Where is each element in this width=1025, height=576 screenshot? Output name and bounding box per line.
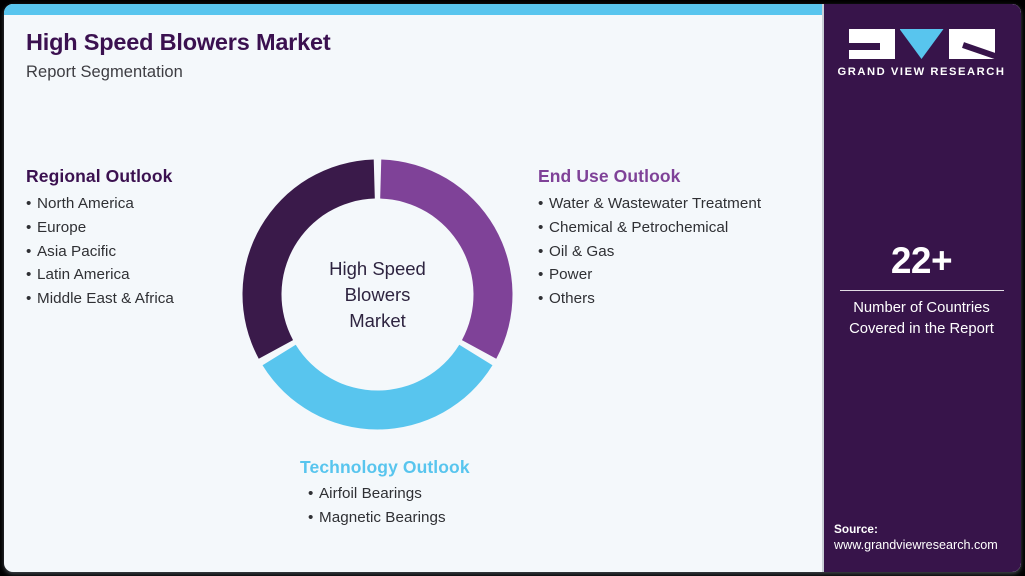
list-item: •Airfoil Bearings xyxy=(300,482,470,506)
list-item-label: Oil & Gas xyxy=(549,243,614,260)
list-item-label: North America xyxy=(37,195,134,212)
segmentation-donut-chart: High Speed Blowers Market xyxy=(239,156,516,433)
list-item: •Latin America xyxy=(26,263,174,287)
stat-value: 22+ xyxy=(822,242,1021,279)
stat-label-line-1: Number of Countries xyxy=(822,298,1021,319)
stat-label-line-2: Covered in the Report xyxy=(822,319,1021,340)
main-card: High Speed Blowers Market Report Segment… xyxy=(4,4,1021,572)
list-item: •Magnetic Bearings xyxy=(300,506,470,530)
brand-logo: GRAND VIEW RESEARCH xyxy=(822,29,1021,78)
donut-segment-end-use[interactable] xyxy=(380,160,512,359)
list-item: •Middle East & Africa xyxy=(26,287,174,311)
logo-wordmark: GRAND VIEW RESEARCH xyxy=(837,66,1005,78)
bullet-icon: • xyxy=(26,192,37,216)
source-block: Source: www.grandviewresearch.com xyxy=(834,521,1019,554)
list-item: •North America xyxy=(26,192,174,216)
bullet-icon: • xyxy=(538,240,549,264)
bullet-icon: • xyxy=(538,263,549,287)
header: High Speed Blowers Market Report Segment… xyxy=(26,29,726,82)
list-item-label: Magnetic Bearings xyxy=(319,509,446,526)
top-accent-bar xyxy=(4,4,822,15)
end-use-outlook-block: End Use Outlook •Water & Wastewater Trea… xyxy=(538,166,761,311)
logo-letter-r-icon xyxy=(949,29,995,59)
regional-outlook-list: •North America •Europe •Asia Pacific •La… xyxy=(26,192,174,311)
logo-letter-v-triangle-icon xyxy=(900,29,944,59)
infographic-root: High Speed Blowers Market Report Segment… xyxy=(0,0,1025,576)
bullet-icon: • xyxy=(26,287,37,311)
technology-outlook-list: •Airfoil Bearings •Magnetic Bearings xyxy=(300,482,470,530)
list-item: •Asia Pacific xyxy=(26,240,174,264)
list-item-label: Middle East & Africa xyxy=(37,290,174,307)
list-item-label: Power xyxy=(549,266,592,283)
bullet-icon: • xyxy=(538,192,549,216)
bullet-icon: • xyxy=(26,263,37,287)
list-item-label: Airfoil Bearings xyxy=(319,485,422,502)
list-item-label: Latin America xyxy=(37,266,130,283)
bullet-icon: • xyxy=(538,216,549,240)
list-item: •Chemical & Petrochemical xyxy=(538,216,761,240)
regional-outlook-title: Regional Outlook xyxy=(26,166,174,187)
countries-stat-block: 22+ Number of Countries Covered in the R… xyxy=(822,242,1021,339)
donut-segment-technology[interactable] xyxy=(263,345,493,430)
technology-outlook-block: Technology Outlook •Airfoil Bearings •Ma… xyxy=(300,457,470,530)
donut-segment-regional[interactable] xyxy=(243,160,375,359)
list-item: •Oil & Gas xyxy=(538,240,761,264)
list-item-label: Asia Pacific xyxy=(37,243,116,260)
list-item: •Power xyxy=(538,263,761,287)
bullet-icon: • xyxy=(538,287,549,311)
end-use-outlook-list: •Water & Wastewater Treatment •Chemical … xyxy=(538,192,761,311)
logo-marks xyxy=(849,29,995,59)
list-item-label: Others xyxy=(549,290,595,307)
list-item: •Others xyxy=(538,287,761,311)
list-item: •Water & Wastewater Treatment xyxy=(538,192,761,216)
source-url[interactable]: www.grandviewresearch.com xyxy=(834,537,1019,554)
list-item-label: Europe xyxy=(37,219,86,236)
list-item: •Europe xyxy=(26,216,174,240)
technology-outlook-title: Technology Outlook xyxy=(300,457,470,478)
source-label: Source: xyxy=(834,521,1019,537)
stat-label: Number of Countries Covered in the Repor… xyxy=(822,298,1021,339)
bullet-icon: • xyxy=(26,240,37,264)
list-item-label: Water & Wastewater Treatment xyxy=(549,195,761,212)
bullet-icon: • xyxy=(308,482,319,506)
regional-outlook-block: Regional Outlook •North America •Europe … xyxy=(26,166,174,311)
logo-letter-g-icon xyxy=(849,29,895,59)
end-use-outlook-title: End Use Outlook xyxy=(538,166,761,187)
list-item-label: Chemical & Petrochemical xyxy=(549,219,728,236)
page-subtitle: Report Segmentation xyxy=(26,63,726,82)
bullet-icon: • xyxy=(26,216,37,240)
right-sidebar: GRAND VIEW RESEARCH 22+ Number of Countr… xyxy=(822,4,1021,572)
bullet-icon: • xyxy=(308,506,319,530)
stat-divider xyxy=(840,290,1004,291)
page-title: High Speed Blowers Market xyxy=(26,29,726,57)
donut-svg xyxy=(239,156,516,433)
